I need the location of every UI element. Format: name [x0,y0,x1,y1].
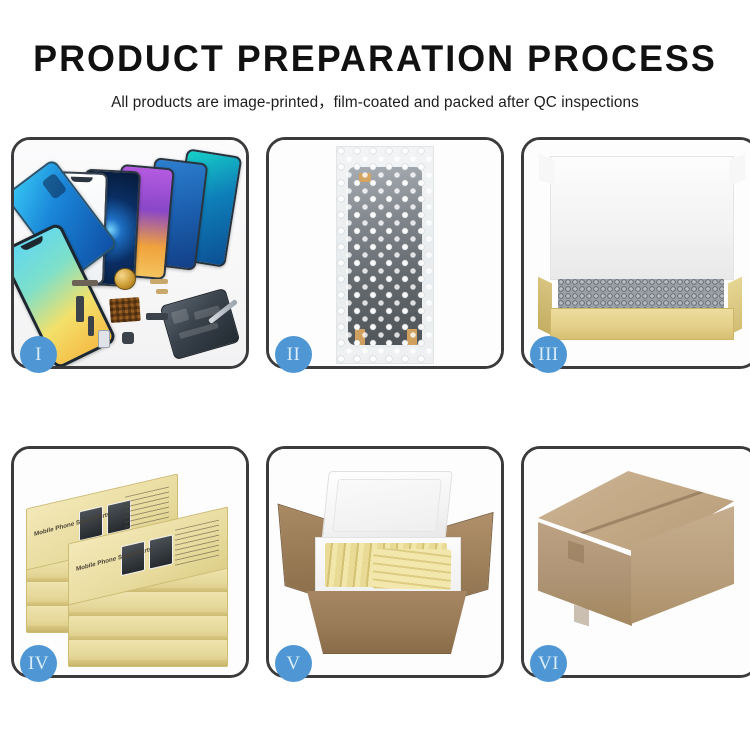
bubble-padding-layer [558,279,724,309]
page-header: PRODUCT PREPARATION PROCESS All products… [0,0,750,112]
part-connector-icon [150,279,168,284]
box-front-panel [550,308,734,340]
step-card-3[interactable]: III [521,137,750,369]
page-title: PRODUCT PREPARATION PROCESS [11,40,739,79]
foam-lid [321,471,453,543]
box-lid [550,156,734,280]
box-stack: Mobile Phone Spare Parts Mobi [26,471,238,661]
step-image-1 [14,140,246,366]
step-badge-4: IV [20,645,57,682]
step-card-6[interactable]: VI [521,446,750,678]
step-image-5 [269,449,501,675]
box-spec-text-2 [175,520,219,566]
carton-hand-hole-2 [574,605,589,627]
chip-array-icon [109,297,141,323]
step-image-4: Mobile Phone Spare Parts Mobi [14,449,246,675]
step-card-1[interactable]: I [11,137,249,369]
step-image-3 [524,140,750,366]
carton-with-foam-illustration [269,449,501,675]
carton-body [307,591,467,654]
page-subtitle: All products are image-printed，film-coat… [0,90,750,112]
bubble-bag [336,146,434,364]
step-card-2[interactable]: II [266,137,504,369]
speaker-module-icon [114,268,136,290]
phone-chassis-icon [160,288,241,361]
step-badge-3: III [530,336,567,373]
stacked-boxes-illustration: Mobile Phone Spare Parts Mobi [14,449,246,675]
phone-parts-illustration [14,140,246,366]
step-badge-5: V [275,645,312,682]
flex-cable-3-icon [146,313,168,320]
step-card-4[interactable]: Mobile Phone Spare Parts Mobi [11,446,249,678]
process-step-grid: I II I [11,137,739,678]
open-box-illustration [524,140,750,366]
sim-tray-icon [98,330,110,348]
step-badge-6: VI [530,645,567,682]
step-badge-2: II [275,336,312,373]
step-badge-1: I [20,336,57,373]
flex-cable-icon [76,296,84,322]
bubble-wrap-illustration [269,140,501,366]
step-image-2 [269,140,501,366]
camera-module-icon [122,332,134,344]
part-strip-icon [72,280,98,286]
step-card-5[interactable]: V [266,446,504,678]
packed-yellow-boxes-2 [373,548,452,589]
step-image-6 [524,449,750,675]
sealed-carton-illustration [524,449,750,675]
bubble-texture [337,147,433,363]
flex-cable-2-icon [88,316,94,336]
box-art-screen-4-icon [149,534,173,570]
part-connector-2-icon [156,289,168,294]
